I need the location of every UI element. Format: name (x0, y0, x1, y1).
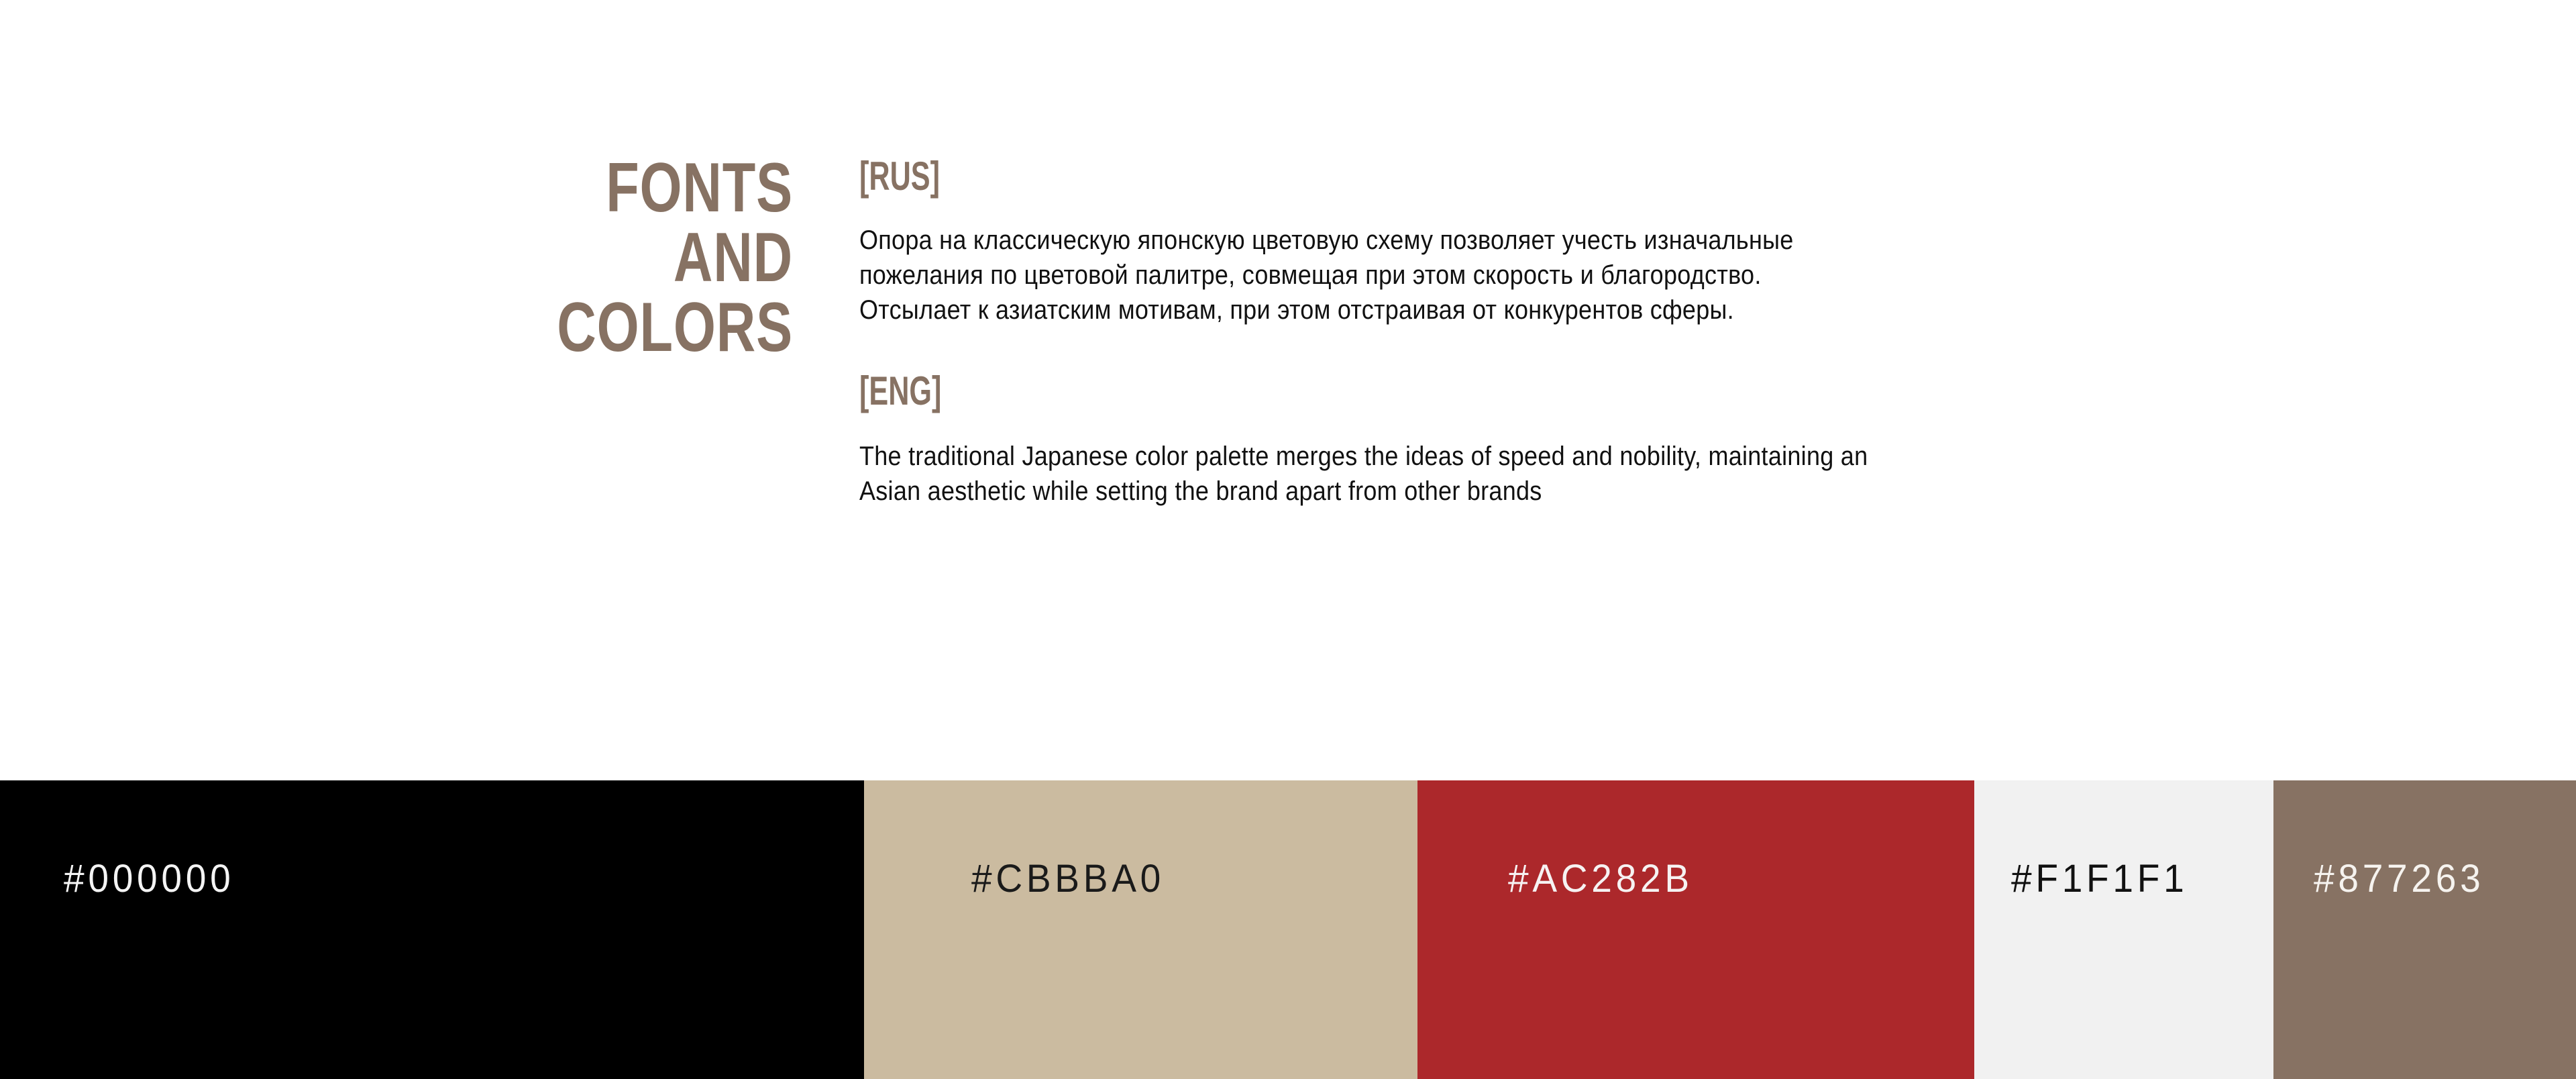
color-swatch-label: #AC282B (1508, 860, 1693, 898)
eng-section: [ENG] The traditional Japanese color pal… (859, 370, 1892, 509)
rus-section: [RUS] Опора на классическую японскую цве… (859, 156, 1892, 327)
rus-language-label: [RUS] (859, 156, 1603, 197)
page-title-line-3: COLORS (436, 293, 793, 362)
color-swatch-offwhite: #F1F1F1 (1974, 780, 2273, 1079)
eng-body-text: The traditional Japanese color palette m… (859, 439, 1880, 509)
content-area: FONTS AND COLORS [RUS] Опора на классиче… (0, 0, 2576, 780)
color-swatch-brown: #877263 (2273, 780, 2576, 1079)
page-title-line-1: FONTS (436, 153, 793, 223)
page-title-line-2: AND (436, 223, 793, 293)
description-column: [RUS] Опора на классическую японскую цве… (859, 156, 1892, 509)
page-title: FONTS AND COLORS (436, 153, 793, 362)
color-swatch-red: #AC282B (1417, 780, 1974, 1079)
color-swatch-black: #000000 (0, 780, 864, 1079)
color-palette-band: #000000 #CBBBA0 #AC282B #F1F1F1 #877263 (0, 780, 2576, 1079)
color-swatch-label: #F1F1F1 (2011, 860, 2188, 898)
color-swatch-label: #000000 (64, 860, 234, 898)
color-swatch-label: #877263 (2314, 860, 2484, 898)
color-swatch-label: #CBBBA0 (971, 860, 1165, 898)
color-swatch-beige: #CBBBA0 (864, 780, 1417, 1079)
rus-body-text: Опора на классическую японскую цветовую … (859, 223, 1880, 327)
eng-language-label: [ENG] (859, 370, 1603, 412)
